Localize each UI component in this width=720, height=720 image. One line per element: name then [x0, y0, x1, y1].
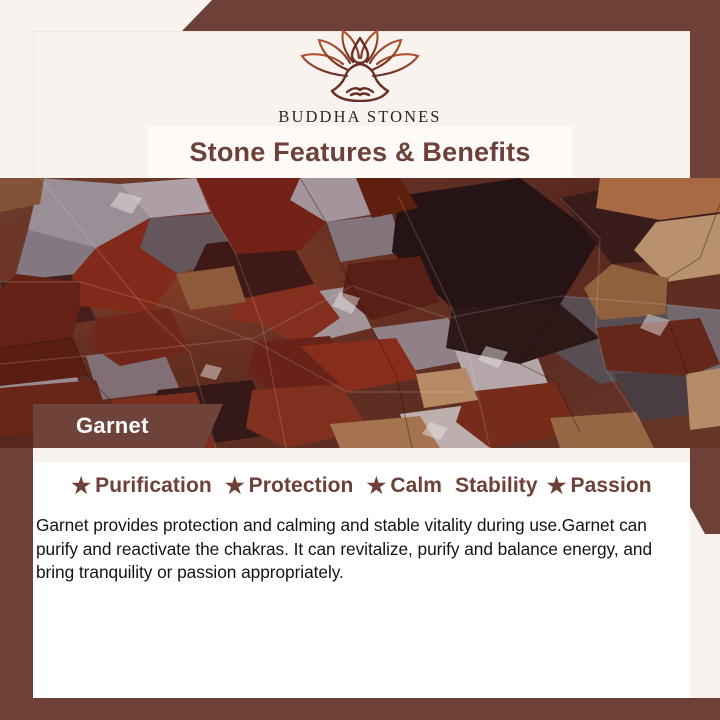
brand-header: BUDDHA STONES: [0, 26, 720, 127]
benefit-label: Calm: [390, 474, 442, 498]
benefit-label: Stability: [455, 474, 538, 498]
benefit-label: Passion: [571, 474, 652, 498]
star-icon: ★: [547, 475, 567, 497]
star-icon: ★: [366, 475, 386, 497]
content-panel: ★ Purification ★ Protection ★ Calm Stabi…: [33, 448, 690, 698]
benefit-label: Protection: [249, 474, 354, 498]
page-title: Stone Features & Benefits: [189, 137, 530, 168]
stone-name-label: Garnet: [33, 413, 149, 439]
benefit-item-calm: ★ Calm: [366, 474, 442, 498]
benefit-list: ★ Purification ★ Protection ★ Calm Stabi…: [33, 474, 690, 498]
lotus-meditation-icon: [285, 26, 435, 102]
benefit-label: Purification: [95, 474, 212, 498]
infographic-card: BUDDHA STONES Stone Features & Benefits: [0, 0, 720, 720]
brand-wordmark: BUDDHA STONES: [0, 107, 720, 127]
content-top-strip: [33, 448, 690, 462]
benefit-item-stability: Stability: [455, 474, 538, 498]
frame-left-bar: [0, 448, 33, 720]
star-icon: ★: [71, 475, 91, 497]
stone-description: Garnet provides protection and calming a…: [36, 514, 686, 585]
stone-name-tag: Garnet: [33, 404, 223, 448]
frame-bottom-bar: [0, 698, 720, 720]
benefit-item-passion: ★ Passion: [547, 474, 652, 498]
star-icon: ★: [225, 475, 245, 497]
benefit-item-protection: ★ Protection: [225, 474, 354, 498]
benefit-item-purification: ★ Purification: [71, 474, 212, 498]
section-title-banner: Stone Features & Benefits: [148, 126, 572, 178]
